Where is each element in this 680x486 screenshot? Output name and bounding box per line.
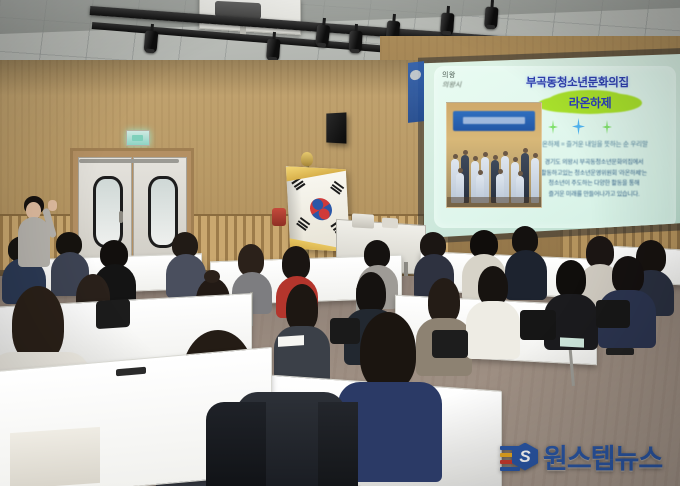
chair (520, 310, 556, 340)
photo-scene: 의왕 의왕시 부곡동청소년문화의집 라온하제 라온하제 = 즐거운 내일을 뜻하… (0, 0, 680, 486)
presentation-slide: 의왕 의왕시 부곡동청소년문화의집 라온하제 라온하제 = 즐거운 내일을 뜻하… (434, 66, 676, 228)
spotlight-icon (266, 32, 281, 63)
door-handle-icon[interactable] (119, 211, 123, 223)
door-push-bar[interactable] (79, 159, 179, 163)
item-on-table (382, 218, 398, 229)
photo-group-figures (447, 137, 541, 203)
flag-finial (301, 152, 313, 166)
smartphone-on-table (606, 348, 634, 355)
trigram-icon (329, 181, 345, 197)
item-on-table (560, 337, 584, 347)
red-object (272, 208, 286, 226)
spotlight-icon (484, 0, 499, 30)
presenter-body (18, 217, 50, 267)
slide-highlight-text: 라온하제 (558, 94, 622, 111)
wall-top-shadow (0, 60, 448, 96)
watermark-bars-icon: S (500, 442, 530, 472)
slide-logo-mark: 의왕 (442, 72, 476, 80)
spotlight-icon (348, 24, 363, 55)
chair (330, 318, 360, 344)
slide-sparkles (546, 118, 632, 134)
slide-city-logo: 의왕 의왕시 (442, 72, 476, 94)
chair (596, 300, 630, 328)
foreground-chair-back (318, 402, 358, 486)
blue-wall-panel (408, 61, 424, 123)
slide-group-photo (446, 102, 542, 208)
watermark-text: 원스텝뉴스 (543, 437, 662, 476)
presenter-hand (48, 200, 57, 211)
laptop-on-table (352, 213, 374, 228)
photo-floor (447, 197, 541, 207)
exit-sign (126, 130, 150, 146)
foreground-table-corner (10, 427, 100, 486)
sparkle-icon (572, 118, 585, 135)
watermark-logo-letter: S (519, 448, 530, 465)
slide-logo-subtext: 의왕시 (442, 80, 476, 90)
taeguk-symbol-icon (306, 194, 337, 224)
foreground-backpack (206, 402, 266, 486)
projection-screen: 의왕 의왕시 부곡동청소년문화의집 라온하제 라온하제 = 즐거운 내일을 뜻하… (424, 54, 680, 238)
spotlight-icon (440, 6, 455, 37)
sparkle-icon (602, 120, 612, 134)
slide-title: 부곡동청소년문화의집 (526, 74, 629, 90)
sparkle-icon (548, 120, 558, 134)
photo-banner (453, 111, 535, 131)
hair-bun (204, 270, 220, 283)
wall-speaker (326, 112, 346, 143)
chair (432, 330, 468, 358)
paper-on-table (278, 335, 304, 347)
spotlight-icon (143, 23, 159, 54)
chair (96, 299, 130, 329)
watermark-logo: S 원스텝뉴스 (500, 437, 662, 476)
